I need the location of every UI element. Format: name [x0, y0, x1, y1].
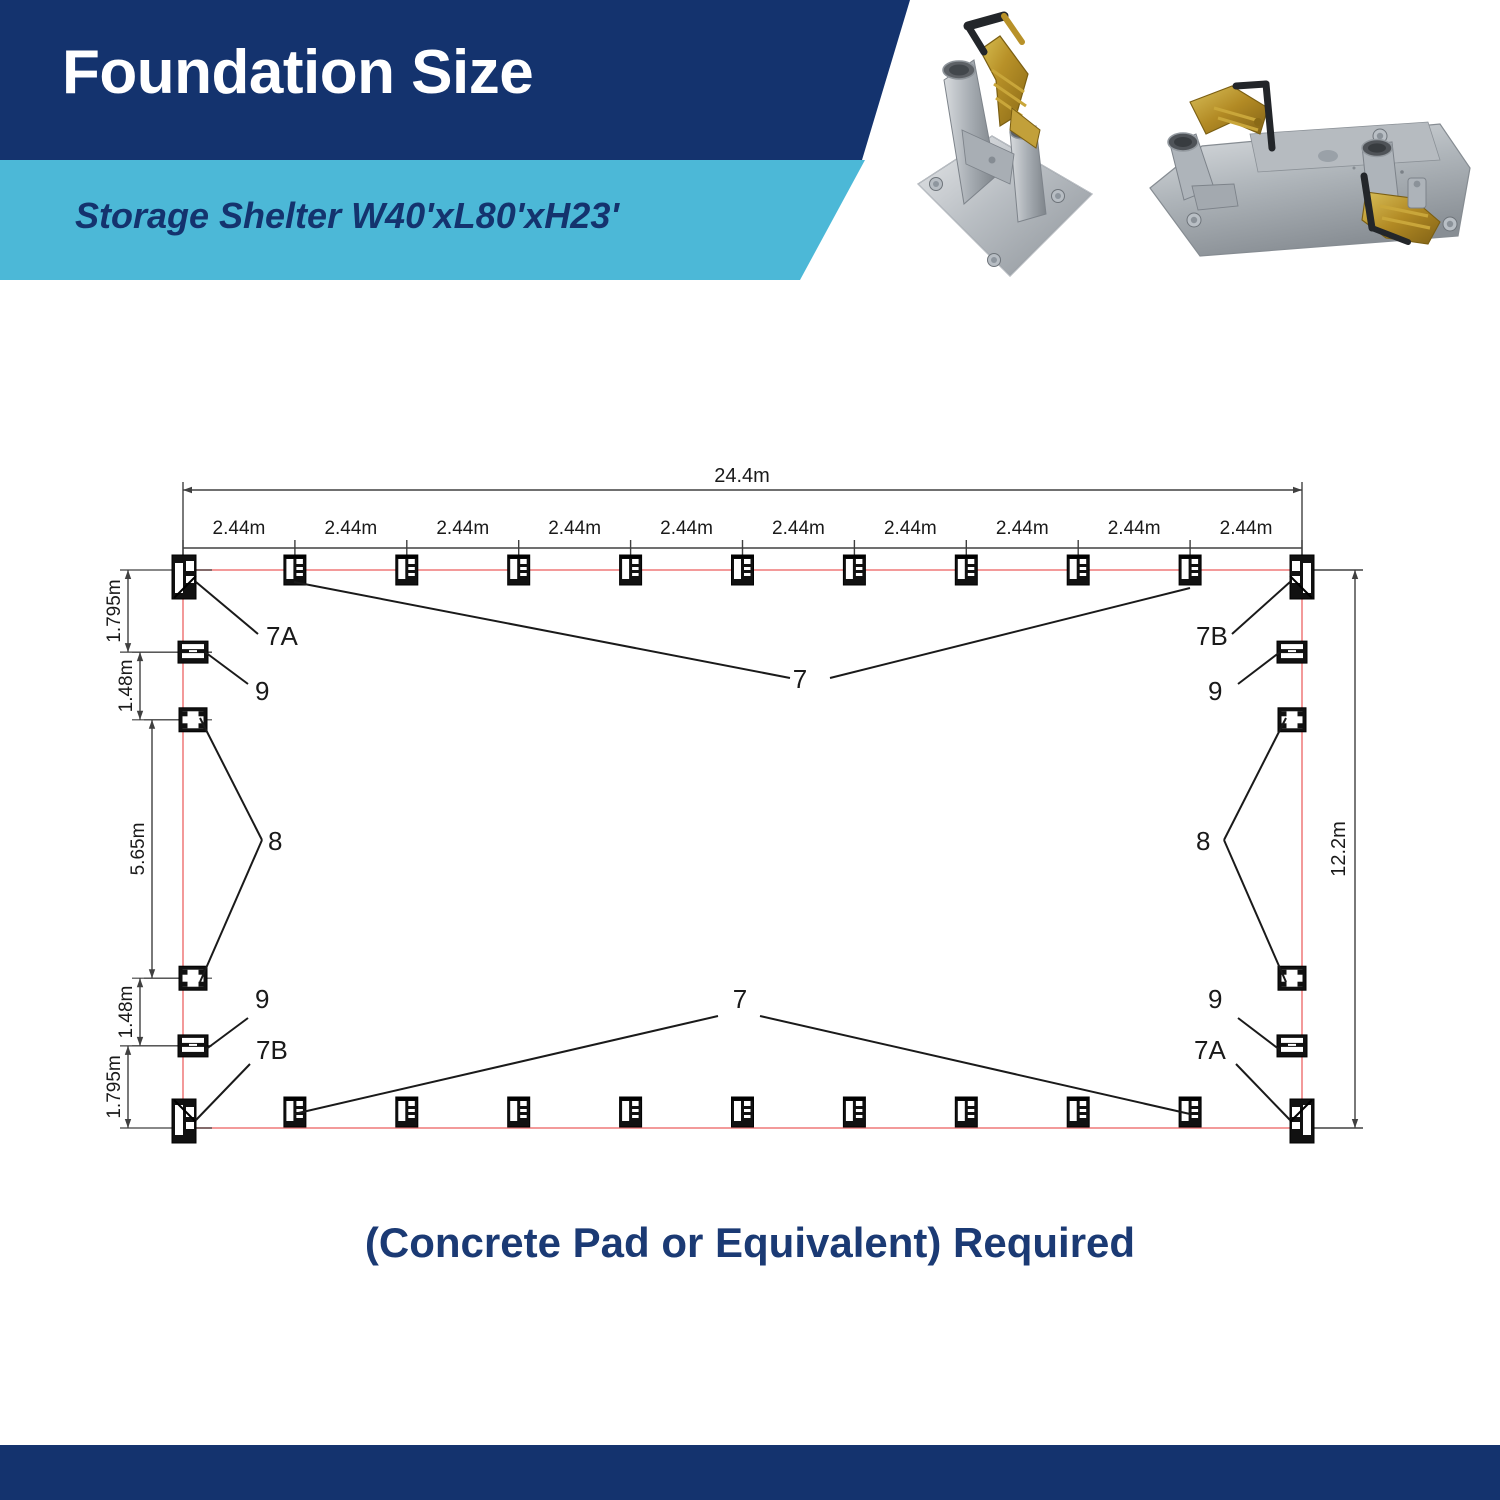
left-dimension-label: 1.48m — [116, 986, 137, 1039]
anchor-bottom — [843, 1097, 865, 1127]
callout-9-right-lower: 9 — [1208, 984, 1222, 1014]
left-dimension-arrow — [125, 570, 131, 579]
callout-9-left-lower: 9 — [255, 984, 269, 1014]
anchor-top — [1067, 555, 1089, 585]
left-dimension-arrow — [149, 720, 155, 729]
bay-dimension-label: 2.44m — [772, 518, 825, 539]
corner-anchor-top-right — [1290, 555, 1314, 599]
dimension-overall-width-label: 24.4m — [714, 465, 770, 487]
anchor-top — [620, 555, 642, 585]
left-dimension-arrow — [137, 652, 143, 661]
anchor-top — [843, 555, 865, 585]
caption-text: (Concrete Pad or Equivalent) Required — [0, 1222, 1500, 1264]
bay-dimension-label: 2.44m — [213, 518, 266, 539]
anchor-side-9-left — [178, 1035, 208, 1057]
footer-bar — [0, 1445, 1500, 1500]
anchor-bottom — [396, 1097, 418, 1127]
callout-7a-top-left: 7A — [266, 621, 298, 651]
left-dimension-label: 1.795m — [104, 579, 125, 642]
poster-root: Foundation Size Storage Shelter W40'xL80… — [0, 0, 1500, 1500]
header-navy-slant — [790, 0, 910, 160]
anchor-top — [508, 555, 530, 585]
callout-7b-top-right: 7B — [1196, 621, 1228, 651]
left-dimension-label: 1.48m — [116, 660, 137, 713]
left-dimension-label: 5.65m — [128, 823, 149, 876]
callout-leaders — [196, 582, 1290, 1120]
corner-anchor-bottom-right — [1290, 1099, 1314, 1143]
foundation-outline — [183, 570, 1302, 1128]
anchor-side-8-right — [1278, 966, 1306, 990]
corner-anchor-top-left — [172, 555, 196, 599]
bay-dimension-label: 2.44m — [1108, 518, 1161, 539]
anchor-bottom — [620, 1097, 642, 1127]
callout-8-right: 8 — [1196, 826, 1210, 856]
page-title: Foundation Size — [62, 42, 533, 104]
dimension-bay-labels: 2.44m2.44m2.44m2.44m2.44m2.44m2.44m2.44m… — [213, 518, 1273, 539]
bay-dimension-label: 2.44m — [324, 518, 377, 539]
bay-dimension-label: 2.44m — [660, 518, 713, 539]
anchor-top — [1179, 555, 1201, 585]
callout-7a-bottom-right: 7A — [1194, 1035, 1226, 1065]
callout-7-bottom: 7 — [733, 984, 747, 1014]
bay-dimension-label: 2.44m — [1220, 518, 1273, 539]
bay-dimension-label: 2.44m — [996, 518, 1049, 539]
dimension-overall-height-label: 12.2m — [1328, 821, 1350, 877]
left-dimension-arrow — [125, 1046, 131, 1055]
left-dimension-arrow — [149, 969, 155, 978]
header-cyan-slant — [735, 160, 865, 280]
left-dimension-arrow — [137, 1037, 143, 1046]
bay-dimension-label: 2.44m — [548, 518, 601, 539]
anchor-side-9-right — [1277, 1035, 1307, 1057]
base-plate-photo-side — [1140, 60, 1480, 275]
callout-9-left-upper: 9 — [255, 676, 269, 706]
left-dimension-arrow — [137, 711, 143, 720]
callout-9-right-upper: 9 — [1208, 676, 1222, 706]
anchor-top — [732, 555, 754, 585]
foundation-plan-drawing: 24.4m 2.44m2.44m2.44m2.44m2.44m2.44m2.44… — [0, 430, 1500, 1190]
anchor-side-9-right — [1277, 641, 1307, 663]
anchor-bottom — [732, 1097, 754, 1127]
left-dimension-arrow — [125, 1119, 131, 1128]
anchor-top — [396, 555, 418, 585]
callout-7-top: 7 — [793, 664, 807, 694]
callout-7b-bottom-left: 7B — [256, 1035, 288, 1065]
base-plate-photo-front — [900, 8, 1110, 293]
anchor-side-8-right — [1278, 708, 1306, 732]
anchor-bottom — [955, 1097, 977, 1127]
left-dimension-label: 1.795m — [104, 1055, 125, 1118]
anchor-bottom — [508, 1097, 530, 1127]
left-dimension-arrow — [137, 978, 143, 987]
anchor-side-8-left — [179, 966, 207, 990]
page-subtitle: Storage Shelter W40'xL80'xH23' — [75, 198, 619, 234]
anchor-top — [284, 555, 306, 585]
bay-dimension-label: 2.44m — [436, 518, 489, 539]
bay-dimension-label: 2.44m — [884, 518, 937, 539]
anchor-side-9-left — [178, 641, 208, 663]
left-dimension-arrow — [125, 643, 131, 652]
corner-anchor-bottom-left — [172, 1099, 196, 1143]
callout-8-left: 8 — [268, 826, 282, 856]
anchor-row-bottom — [284, 1097, 1201, 1127]
anchor-top — [955, 555, 977, 585]
anchor-bottom — [1067, 1097, 1089, 1127]
anchor-side-8-left — [179, 708, 207, 732]
